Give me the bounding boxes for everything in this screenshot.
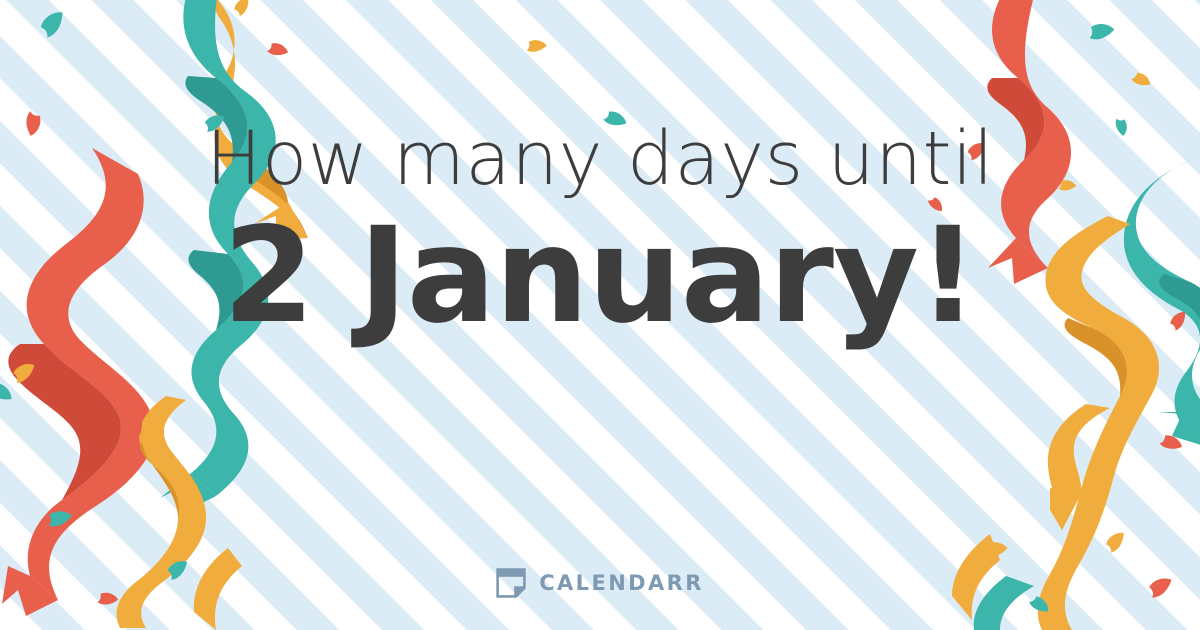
- headline-block: How many days until 2 January!: [0, 122, 1200, 342]
- brand-logo[interactable]: CALENDARR: [0, 568, 1200, 598]
- headline-question: How many days until: [0, 122, 1200, 196]
- calendar-page-icon: [496, 568, 526, 598]
- banner-content: How many days until 2 January! CALENDARR: [0, 0, 1200, 630]
- brand-wordmark: CALENDARR: [539, 573, 704, 594]
- countdown-banner: How many days until 2 January! CALENDARR: [0, 0, 1200, 630]
- headline-date: 2 January!: [0, 210, 1200, 342]
